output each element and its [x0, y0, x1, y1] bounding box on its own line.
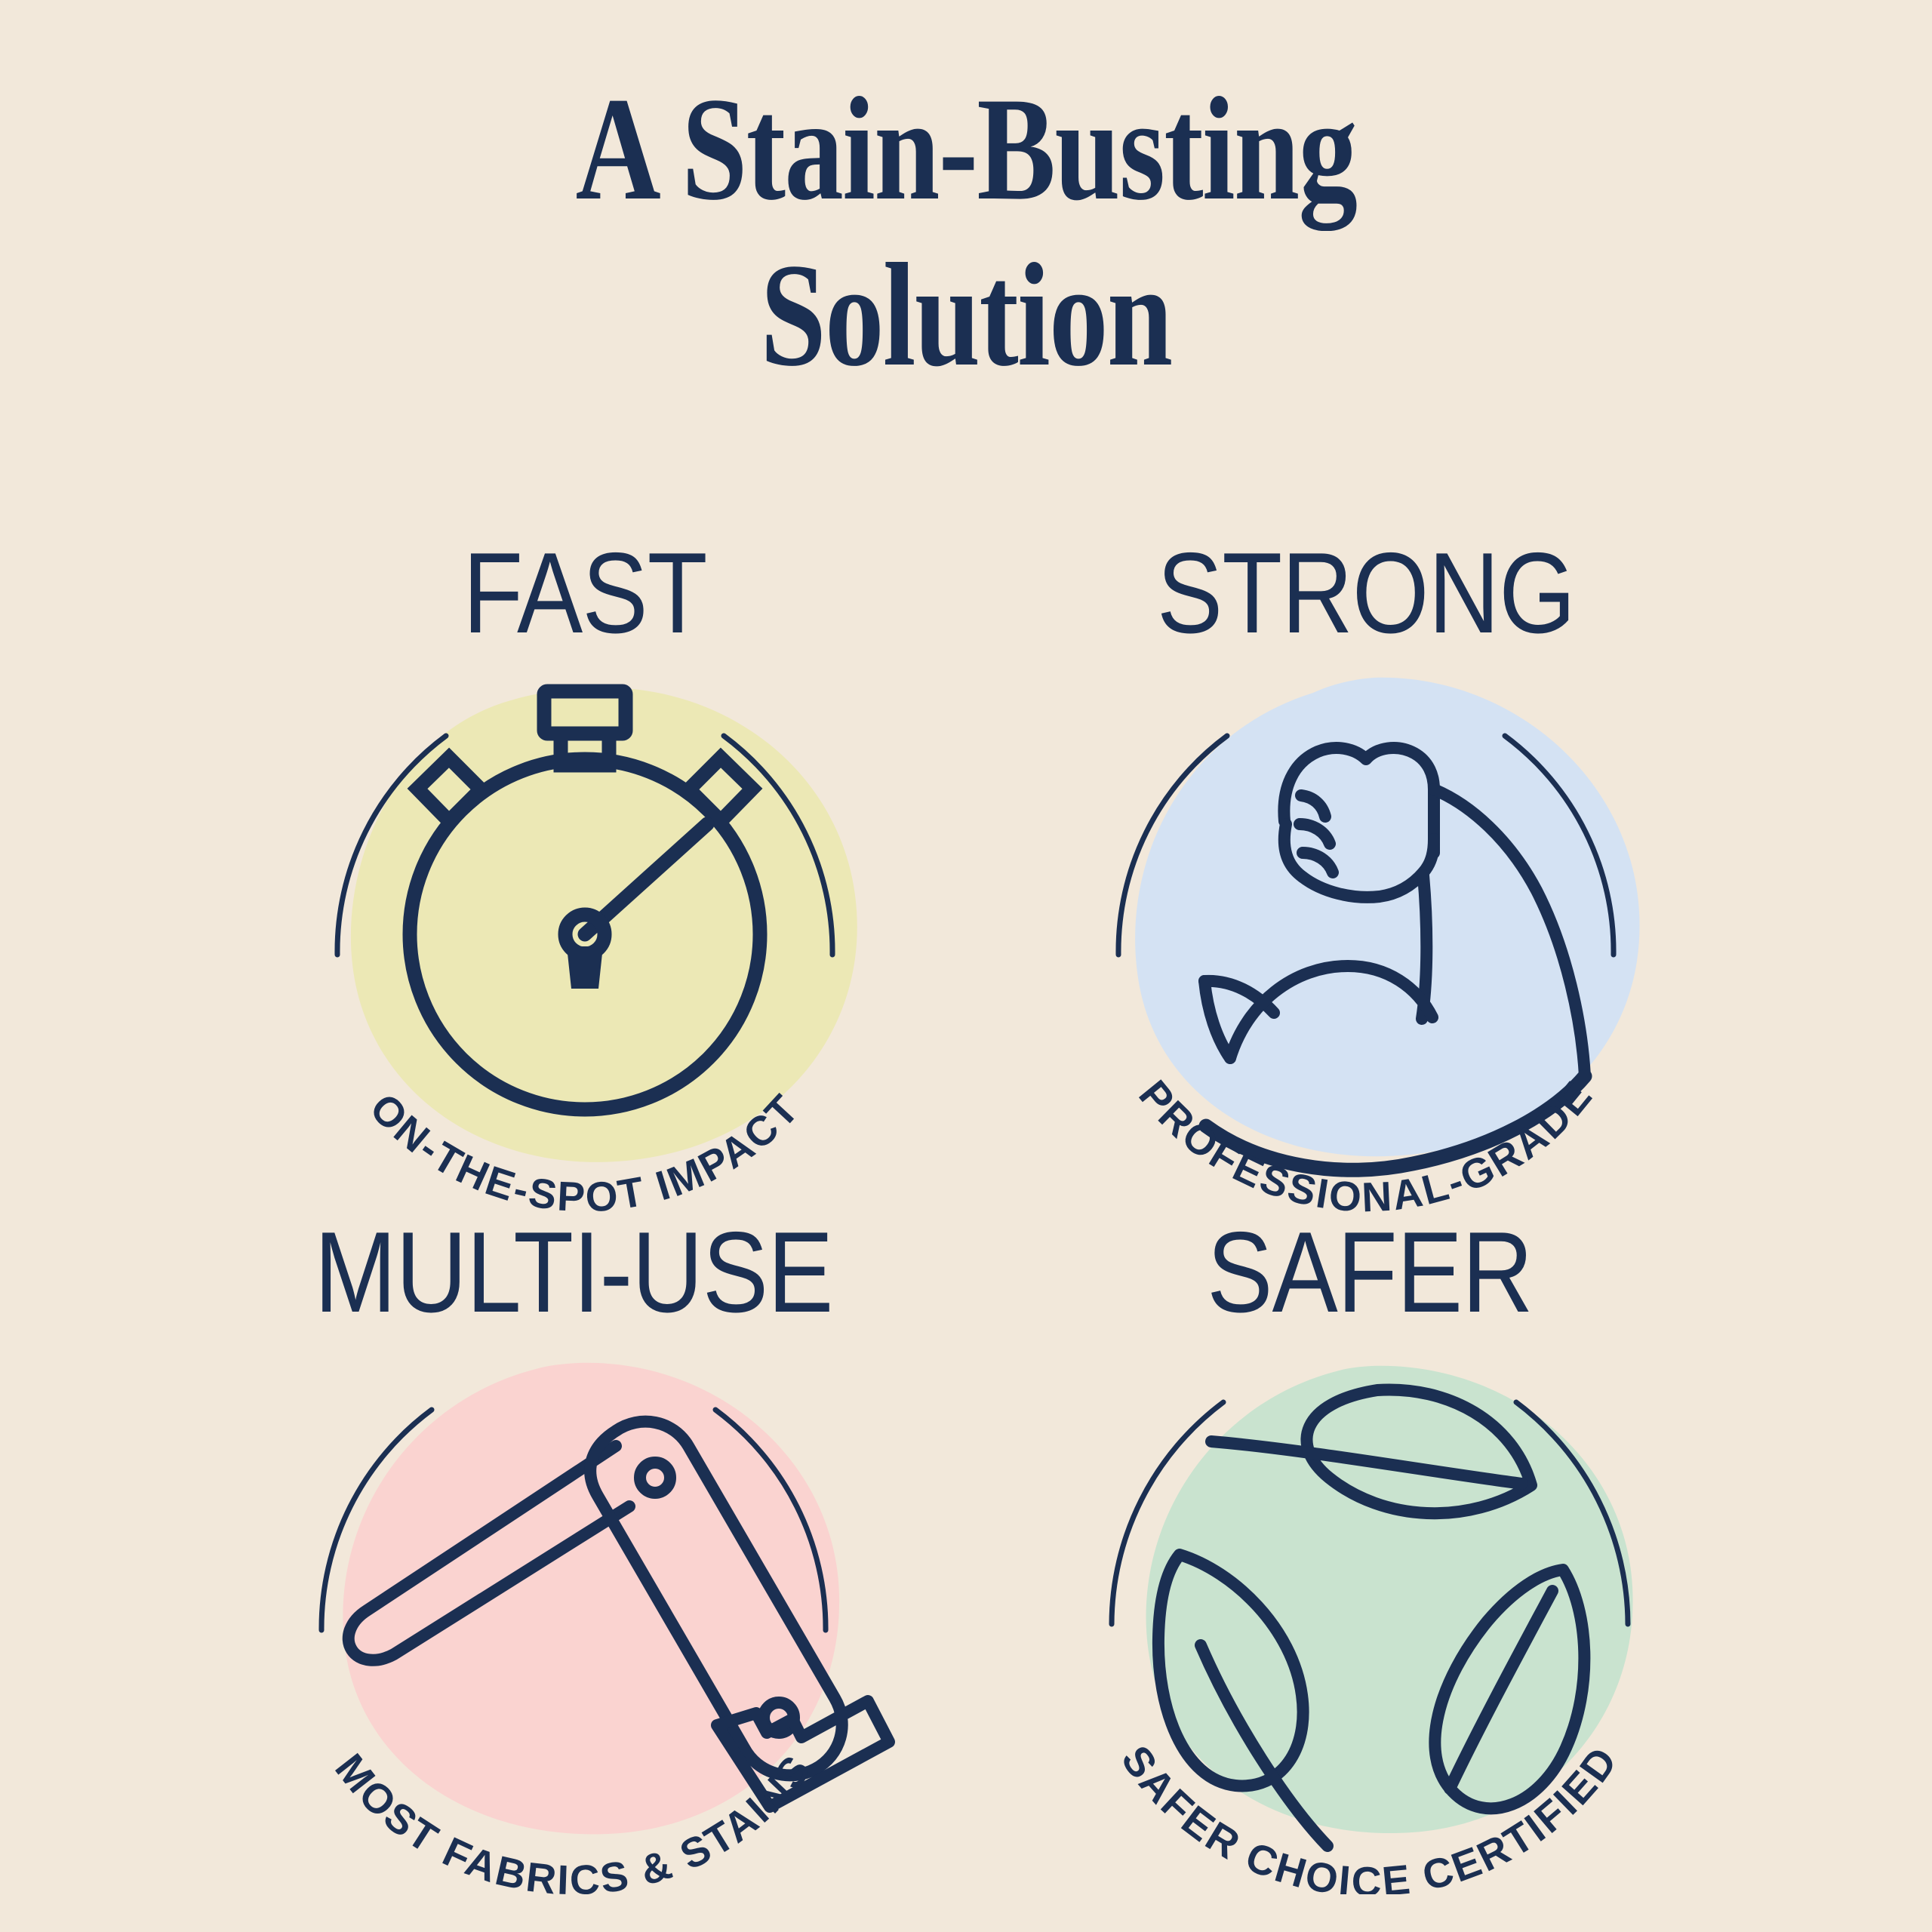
infographic-poster: A Stain-Busting Solution FAST: [0, 0, 1932, 1932]
title-line-1: A Stain-Busting: [193, 66, 1739, 232]
title-line-2: Solution: [193, 232, 1739, 398]
badge-multi-use-art: MOST FABRICS & STAINS: [189, 1306, 958, 1894]
badge-strong: STRONG: [943, 536, 1789, 1215]
benefit-badge-grid: FAST: [0, 536, 1932, 1894]
badge-multi-use: MULTI-USE: [151, 1215, 996, 1894]
badge-strong-art: PROFESSIONAL-GRADE: [981, 626, 1751, 1215]
page-title: A Stain-Busting Solution: [0, 66, 1932, 398]
badge-safer: SAFER: [947, 1215, 1792, 1894]
badge-fast-art: ON-THE-SPOT IMPACT: [200, 626, 970, 1215]
badge-fast: FAST: [162, 536, 1008, 1215]
badge-safer-art: SAFER CHOICE CERTIFIED: [985, 1306, 1755, 1894]
